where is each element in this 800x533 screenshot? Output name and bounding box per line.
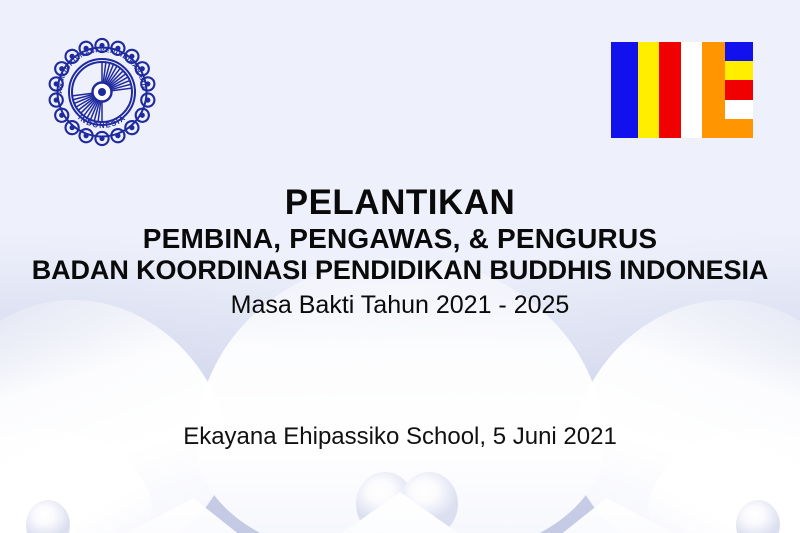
lotus-petal-front-left [60,498,290,533]
lotus-bud-far-left [26,500,70,533]
lotus-bud-far-right [736,500,780,533]
flag-stripe-orange [702,42,725,138]
flag-stripe-blue [611,42,638,138]
flag-band-white [725,100,753,119]
buddhist-flag [611,42,753,138]
flag-stripe-yellow [638,42,659,138]
title-line-4-term: Masa Bakti Tahun 2021 - 2025 [0,286,800,321]
dharma-wheel-emblem-icon: BADAN KOORDINASI PENDIDIKAN BUDDHIS INDO… [47,37,157,147]
title-block: PELANTIKAN PEMBINA, PENGAWAS, & PENGURUS… [0,183,800,321]
lotus-petal-far-right [624,385,800,533]
flag-band-orange [725,119,753,138]
presentation-slide: BADAN KOORDINASI PENDIDIKAN BUDDHIS INDO… [0,0,800,533]
venue-and-date: Ekayana Ehipassiko School, 5 Juni 2021 [0,423,800,451]
flag-tail-bands [725,42,753,138]
title-line-3: BADAN KOORDINASI PENDIDIKAN BUDDHIS INDO… [0,255,800,286]
title-line-1: PELANTIKAN [0,183,800,223]
flag-stripe-white [681,42,702,138]
organization-logo: BADAN KOORDINASI PENDIDIKAN BUDDHIS INDO… [47,37,157,147]
flag-band-blue [725,42,753,61]
flag-band-yellow [725,61,753,80]
lotus-bud-left [356,472,414,533]
lotus-bud-right [400,472,458,533]
flag-band-red [725,80,753,99]
lotus-petal-far-left [0,385,176,533]
lotus-petal-front-center [268,492,532,533]
title-line-2: PEMBINA, PENGAWAS, & PENGURUS [0,223,800,255]
flag-stripe-red [659,42,680,138]
lotus-petal-front-right [510,498,740,533]
